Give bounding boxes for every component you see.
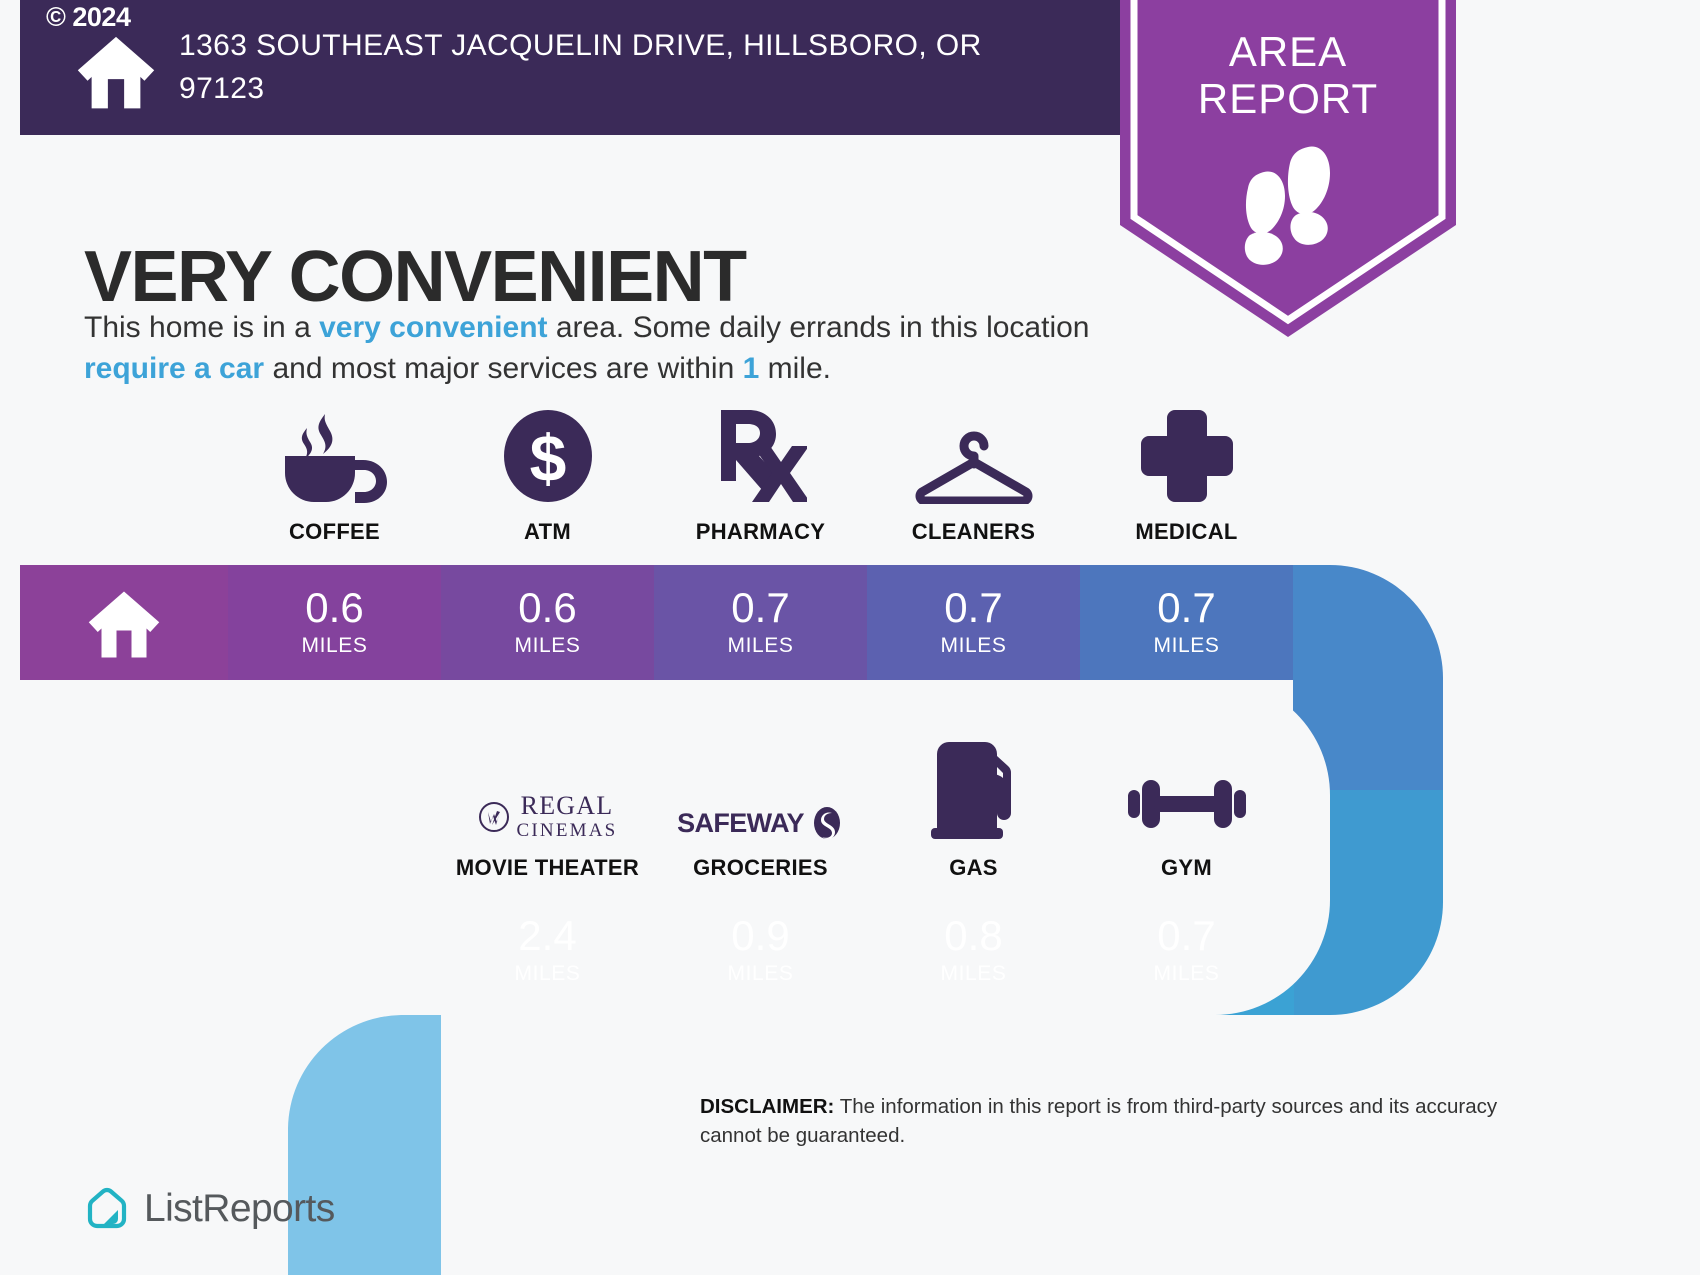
amenity-atm: $ ATM — [441, 404, 654, 545]
distance-values-row-1: 0.6 MILES 0.6 MILES 0.7 MILES 0.7 MILES … — [228, 565, 1293, 680]
regal-mark-icon — [478, 801, 510, 833]
distance-unit: MILES — [940, 962, 1006, 986]
amenity-label: PHARMACY — [696, 519, 826, 545]
amenity-label: ATM — [524, 519, 571, 545]
medical-cross-icon — [1139, 404, 1235, 504]
badge-line-2: REPORT — [1112, 75, 1464, 122]
amenity-label: MEDICAL — [1135, 519, 1237, 545]
distance-cell-groceries: 0.9 MILES — [654, 893, 867, 1008]
distance-value: 0.7 — [1157, 915, 1215, 957]
distance-unit: MILES — [301, 634, 367, 658]
safeway-mark-icon — [810, 806, 844, 840]
house-icon — [85, 587, 163, 659]
distance-cell-coffee: 0.6 MILES — [228, 565, 441, 680]
dollar-coin-icon: $ — [502, 404, 594, 504]
amenity-label: MOVIE THEATER — [456, 855, 639, 881]
distance-value: 0.6 — [518, 587, 576, 629]
distance-cell-movie-theater: 2.4 MILES — [441, 893, 654, 1008]
distance-unit: MILES — [1153, 634, 1219, 658]
distance-cell-gym: 0.7 MILES — [1080, 893, 1293, 1008]
disclaimer: DISCLAIMER: The information in this repo… — [700, 1092, 1500, 1150]
safeway-logo: SAFEWAY — [677, 740, 844, 840]
distance-cell-pharmacy: 0.7 MILES — [654, 565, 867, 680]
badge-line-1: AREA — [1112, 28, 1464, 75]
amenity-groceries: SAFEWAY GROCERIES — [654, 740, 867, 881]
distance-cell-medical: 0.7 MILES — [1080, 565, 1293, 680]
amenity-cleaners: CLEANERS — [867, 404, 1080, 545]
distance-unit: MILES — [940, 634, 1006, 658]
rx-icon — [715, 404, 807, 504]
amenity-gas: GAS — [867, 740, 1080, 881]
distance-unit: MILES — [514, 962, 580, 986]
regal-cinemas-logo: REGAL CINEMAS — [478, 740, 618, 840]
amenity-label: COFFEE — [289, 519, 380, 545]
amenity-icon-row-1: COFFEE $ ATM PHARMACY — [228, 404, 1293, 545]
distance-unit: MILES — [514, 634, 580, 658]
listreports-house-icon — [84, 1186, 130, 1232]
distance-unit: MILES — [1153, 962, 1219, 986]
brand-line-2: CINEMAS — [517, 821, 618, 840]
listreports-logo-text: ListReports — [144, 1187, 335, 1231]
home-position-marker — [20, 565, 228, 680]
distance-values-row-2: 2.4 MILES 0.9 MILES 0.8 MILES 0.7 MILES — [441, 893, 1293, 1008]
distance-unit: MILES — [727, 634, 793, 658]
amenity-label: GYM — [1161, 855, 1212, 881]
gas-pump-icon — [925, 740, 1023, 840]
copyright-label: © 2024 — [46, 2, 130, 33]
distance-value: 0.6 — [305, 587, 363, 629]
amenity-medical: MEDICAL — [1080, 404, 1293, 545]
distance-cell-cleaners: 0.7 MILES — [867, 565, 1080, 680]
amenity-label: CLEANERS — [912, 519, 1035, 545]
amenity-label: GAS — [949, 855, 998, 881]
amenity-pharmacy: PHARMACY — [654, 404, 867, 545]
distance-value: 2.4 — [518, 915, 576, 957]
amenity-coffee: COFFEE — [228, 404, 441, 545]
distance-cell-gas: 0.8 MILES — [867, 893, 1080, 1008]
listreports-logo[interactable]: ListReports — [84, 1186, 335, 1232]
distance-value: 0.8 — [944, 915, 1002, 957]
clothes-hanger-icon — [910, 404, 1038, 504]
distance-value: 0.7 — [731, 587, 789, 629]
area-report-badge: AREA REPORT — [1112, 0, 1464, 345]
amenity-label: GROCERIES — [693, 855, 828, 881]
distance-unit: MILES — [727, 962, 793, 986]
amenity-gym: GYM — [1080, 740, 1293, 881]
distance-value: 0.7 — [1157, 587, 1215, 629]
badge-label: AREA REPORT — [1112, 28, 1464, 122]
coffee-cup-icon — [281, 404, 389, 504]
distance-cell-atm: 0.6 MILES — [441, 565, 654, 680]
brand-line-1: REGAL — [517, 793, 618, 819]
svg-text:$: $ — [529, 421, 566, 495]
dumbbell-icon — [1124, 740, 1250, 840]
brand-line-1: SAFEWAY — [677, 808, 804, 839]
amenity-movie-theater: REGAL CINEMAS MOVIE THEATER — [441, 740, 654, 881]
amenity-icon-row-2: REGAL CINEMAS MOVIE THEATER SAFEWAY GROC… — [441, 740, 1293, 881]
disclaimer-label: DISCLAIMER: — [700, 1095, 834, 1118]
distance-value: 0.7 — [944, 587, 1002, 629]
distance-value: 0.9 — [731, 915, 789, 957]
